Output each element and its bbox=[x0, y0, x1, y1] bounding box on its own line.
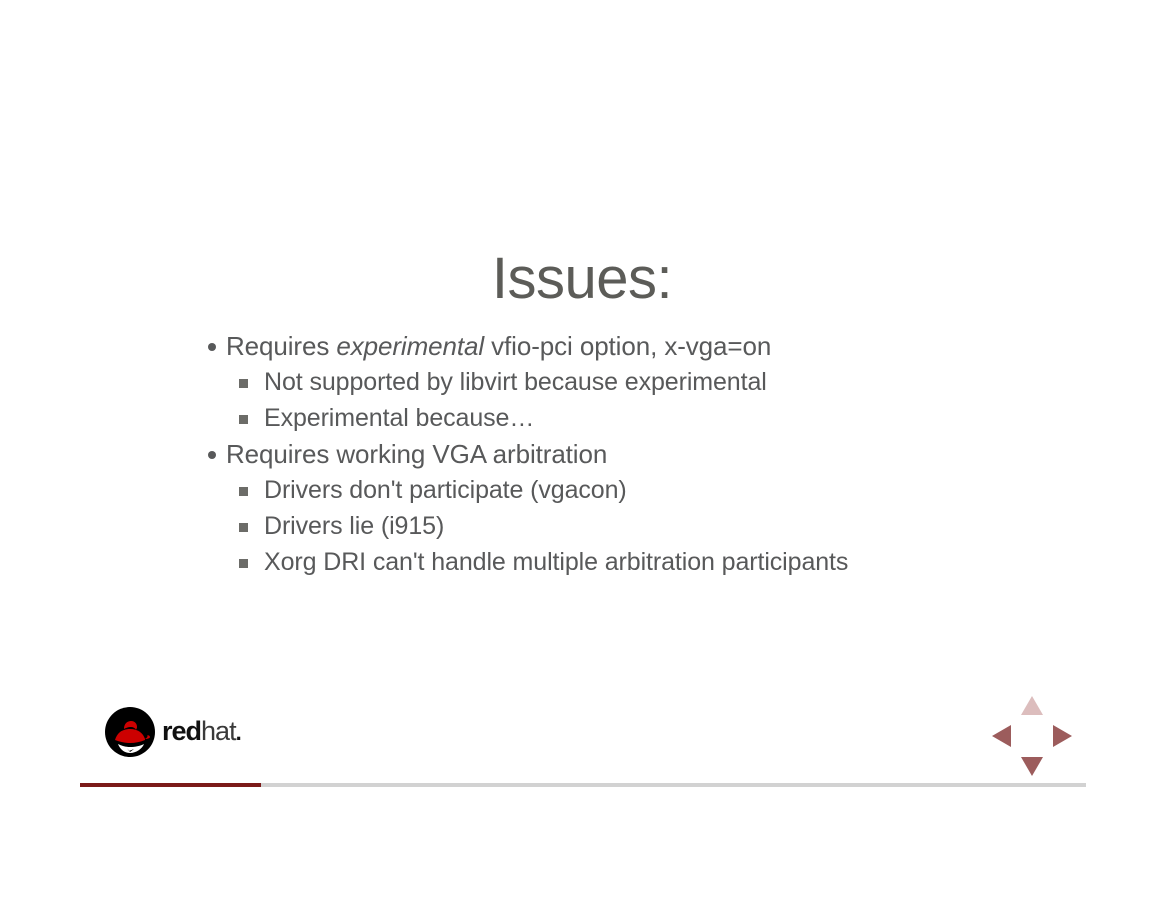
page-title: Issues: bbox=[0, 248, 1164, 310]
redhat-wordmark-hat: hat bbox=[201, 716, 236, 746]
list-item-label: Drivers lie (i915) bbox=[264, 508, 1076, 544]
list-item: Xorg DRI can't handle multiple arbitrati… bbox=[196, 544, 1076, 580]
redhat-logo: redhat. bbox=[104, 704, 264, 760]
list-item-label: Requires experimental vfio-pci option, x… bbox=[226, 328, 1076, 364]
nav-up-arrow-icon[interactable] bbox=[1021, 696, 1043, 715]
footer-divider bbox=[80, 783, 1086, 787]
bullet-list: Requires experimental vfio-pci option, x… bbox=[196, 328, 1076, 580]
list-item-text-after-emphasis: vfio-pci option, x-vga=on bbox=[484, 331, 771, 361]
list-item-emphasis: experimental bbox=[336, 331, 484, 361]
list-item: Requires experimental vfio-pci option, x… bbox=[196, 328, 1076, 364]
nav-down-arrow-icon[interactable] bbox=[1021, 757, 1043, 776]
redhat-wordmark-red: red bbox=[162, 716, 201, 746]
list-item-label: Requires working VGA arbitration bbox=[226, 436, 1076, 472]
nav-right-arrow-icon[interactable] bbox=[1053, 725, 1072, 747]
list-item-label: Xorg DRI can't handle multiple arbitrati… bbox=[264, 544, 1076, 580]
presentation-slide: Issues: Requires experimental vfio-pci o… bbox=[0, 0, 1164, 899]
redhat-wordmark-dot: . bbox=[236, 720, 241, 745]
nav-left-arrow-icon[interactable] bbox=[992, 725, 1011, 747]
list-item: Drivers don't participate (vgacon) bbox=[196, 472, 1076, 508]
list-item-label: Experimental because… bbox=[264, 400, 1076, 436]
list-item: Not supported by libvirt because experim… bbox=[196, 364, 1076, 400]
list-item: Requires working VGA arbitration bbox=[196, 436, 1076, 472]
list-item: Drivers lie (i915) bbox=[196, 508, 1076, 544]
list-item: Experimental because… bbox=[196, 400, 1076, 436]
list-item-text-before-emphasis: Requires bbox=[226, 331, 336, 361]
redhat-wordmark: redhat. bbox=[162, 718, 241, 746]
redhat-shadowman-icon bbox=[104, 706, 156, 758]
footer-divider-accent bbox=[80, 783, 261, 787]
slide-navigation-pad[interactable] bbox=[992, 696, 1072, 776]
list-item-label: Drivers don't participate (vgacon) bbox=[264, 472, 1076, 508]
list-item-label: Not supported by libvirt because experim… bbox=[264, 364, 1076, 400]
